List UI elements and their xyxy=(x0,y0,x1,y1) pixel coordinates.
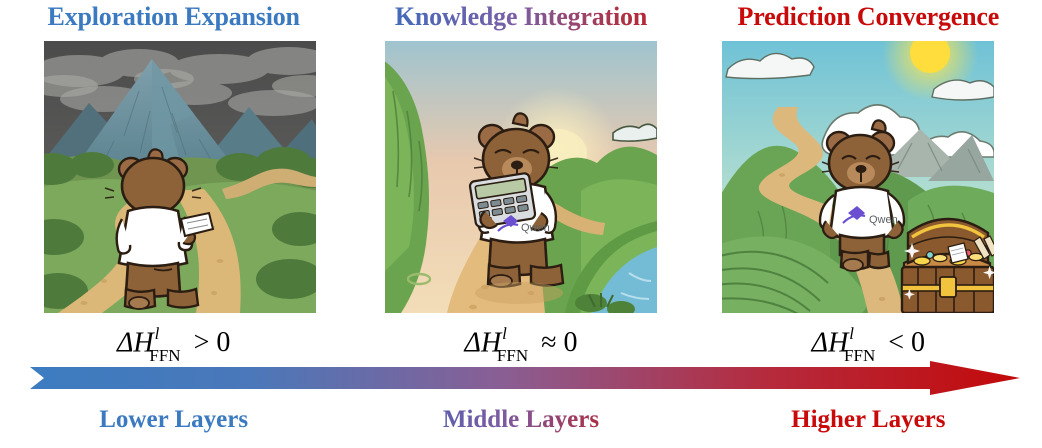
illustration-prediction-convergence: Qwen xyxy=(722,41,994,313)
illustration-panels-row: Qwen xyxy=(0,41,1042,313)
formulas-row: ΔHlFFN> 0 ΔHlFFN≈ 0 ΔHlFFN< 0 xyxy=(0,316,1042,358)
panel-title-prediction-convergence: Prediction Convergence xyxy=(695,0,1042,36)
formula-prediction-convergence: ΔHlFFN< 0 xyxy=(695,316,1042,358)
scene-sunny-treasure-path: Qwen xyxy=(722,41,994,313)
layer-label-higher: Higher Layers xyxy=(695,400,1042,444)
formula-relation: < 0 xyxy=(882,327,925,358)
treasure-chest xyxy=(902,219,994,313)
formula-knowledge-integration: ΔHlFFN≈ 0 xyxy=(347,316,694,358)
formula-superscript: l xyxy=(155,324,160,343)
layer-label-middle: Middle Layers xyxy=(347,400,694,444)
panel-title-exploration-expansion: Exploration Expansion xyxy=(0,0,347,36)
illustration-exploration-expansion xyxy=(44,41,316,313)
scene-sunset-path-calculator: Qwen xyxy=(385,41,657,313)
formula-delta: Δ xyxy=(812,327,828,358)
panel-titles-row: Exploration Expansion Knowledge Integrat… xyxy=(0,0,1042,36)
formula-superscript: l xyxy=(849,324,854,343)
formula-superscript: l xyxy=(502,324,507,343)
formula-delta: Δ xyxy=(117,327,133,358)
formula-relation: > 0 xyxy=(188,327,231,358)
illustration-knowledge-integration: Qwen xyxy=(385,41,657,313)
layer-progression-arrow xyxy=(30,361,1020,395)
formula-relation: ≈ 0 xyxy=(535,327,577,358)
svg-text:Qwen: Qwen xyxy=(869,214,898,226)
layer-labels-row: Lower Layers Middle Layers Higher Layers xyxy=(0,400,1042,444)
formula-delta: Δ xyxy=(465,327,481,358)
gradient-arrow-icon xyxy=(30,361,1020,395)
layer-label-lower: Lower Layers xyxy=(0,400,347,444)
scene-stormy-fork-paths xyxy=(44,41,316,313)
svg-text:Qwen: Qwen xyxy=(521,222,550,234)
formula-exploration-expansion: ΔHlFFN> 0 xyxy=(0,316,347,358)
panel-title-knowledge-integration: Knowledge Integration xyxy=(347,0,694,36)
